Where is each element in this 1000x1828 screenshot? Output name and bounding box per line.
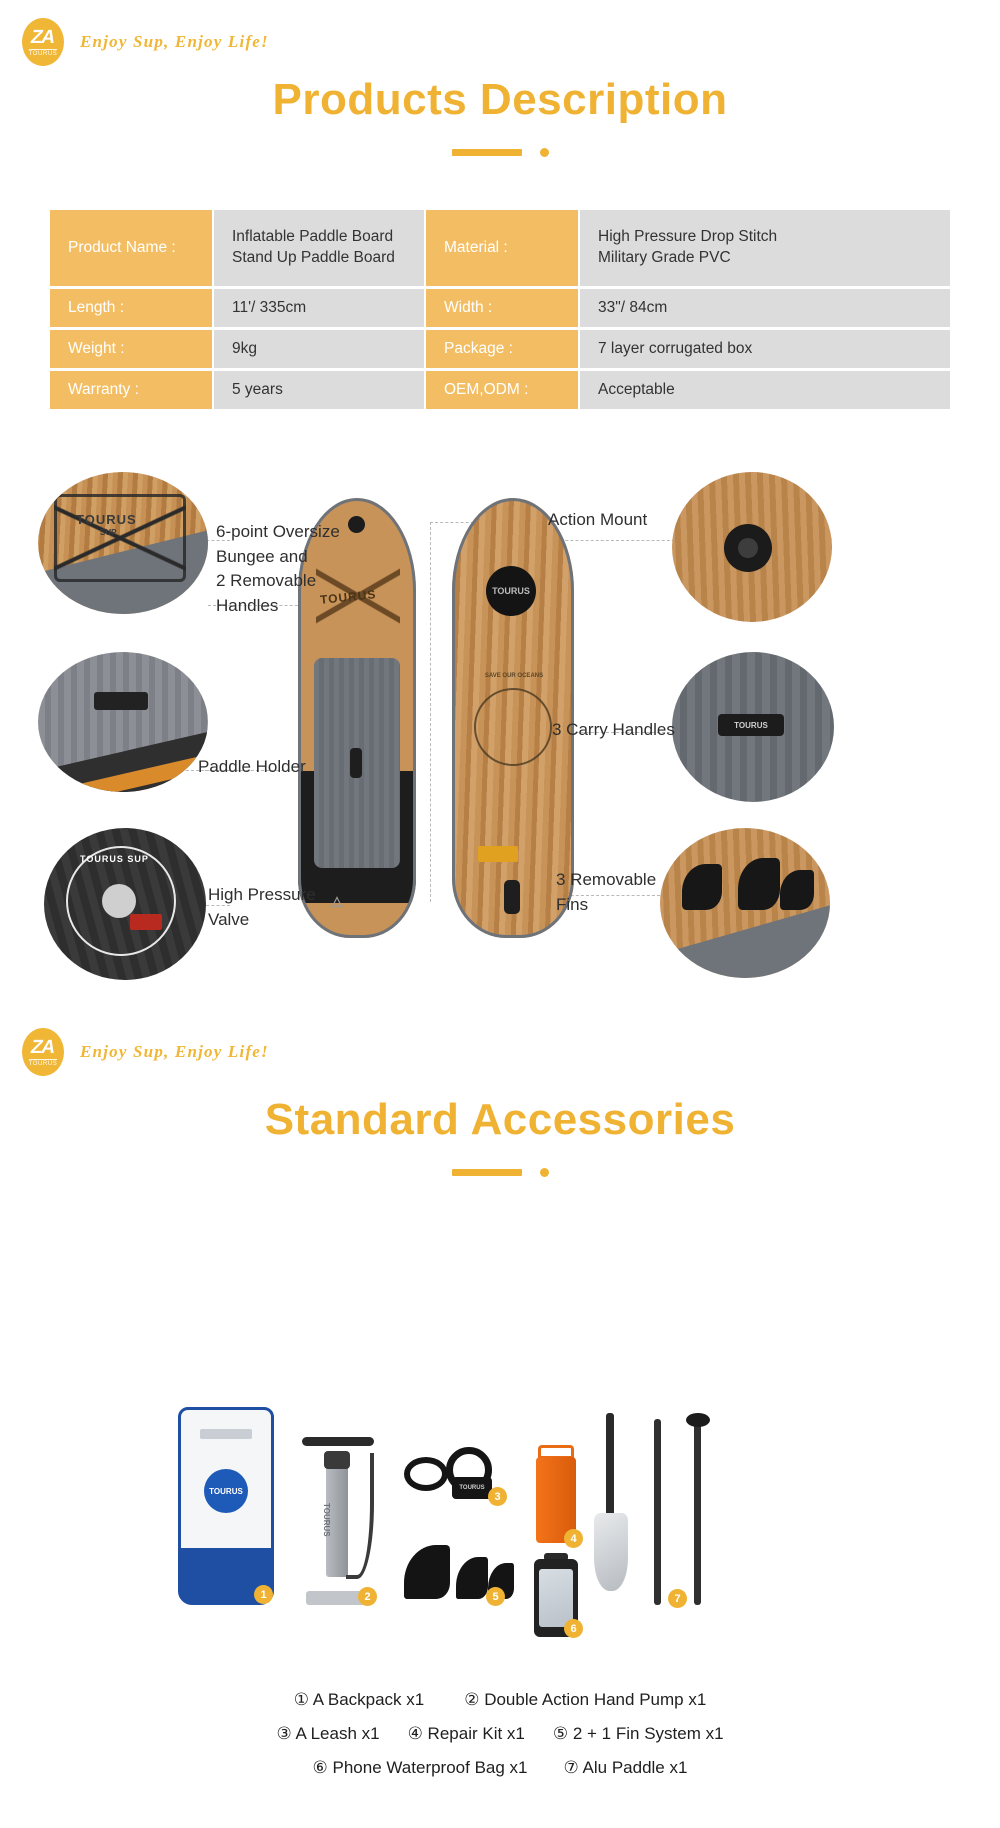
logo-wordmark: TOURUS [29,1059,58,1067]
photo-removable-fins [660,828,830,978]
accessory-badge-4: 4 [564,1529,583,1548]
product-description-page: ZA TOURUS Enjoy Sup, Enjoy Life! Product… [0,0,1000,1828]
list-item: ① A Backpack x1 [294,1690,425,1710]
spec-value: 9kg [214,330,424,368]
brand-header-bottom: ZA TOURUS Enjoy Sup, Enjoy Life! [22,1028,269,1076]
callout-bungee: 6-point Oversize Bungee and 2 Removable … [216,520,346,619]
accessories-list-row: ① A Backpack x1 ② Double Action Hand Pum… [0,1690,1000,1710]
callout-action-mount: Action Mount [548,508,647,533]
brand-header-top: ZA TOURUS Enjoy Sup, Enjoy Life! [22,18,269,66]
spec-value: 5 years [214,371,424,409]
callout-fins: 3 Removable Fins [556,868,656,917]
spec-key: Package : [426,330,578,368]
title-divider-accessories [0,1168,1000,1177]
logo-wordmark: TOURUS [29,49,58,57]
divider-bar [452,149,522,156]
accessory-badge-7: 7 [668,1589,687,1608]
logo-monogram: ZA [29,28,56,47]
spec-value: 33"/ 84cm [580,289,950,327]
turtle-graphic [474,688,552,766]
spec-key: Product Name : [50,210,212,286]
board-tail-logo: △ [332,893,342,909]
accessories-list: ① A Backpack x1 ② Double Action Hand Pum… [0,1690,1000,1792]
table-row: Length : 11'/ 335cm Width : 33"/ 84cm [50,289,950,327]
accessories-list-row: ③ A Leash x1 ④ Repair Kit x1 ⑤ 2 + 1 Fin… [0,1724,1000,1744]
spec-value: 11'/ 335cm [214,289,424,327]
accessory-leash: TOURUS 3 [404,1443,508,1509]
spec-key: Warranty : [50,371,212,409]
spec-value: High Pressure Drop Stitch Military Grade… [580,210,950,286]
spec-key: OEM,ODM : [426,371,578,409]
tourus-logo-icon: ZA TOURUS [22,1028,64,1076]
accessory-badge-2: 2 [358,1587,377,1606]
callout-carry-handles: 3 Carry Handles [552,718,675,743]
accessory-alu-paddle: 7 [598,1413,738,1613]
center-handle [350,748,362,778]
photo-paddle-holder [38,652,208,792]
leader-line [545,540,685,541]
list-item: ⑦ Alu Paddle x1 [564,1758,688,1778]
list-item: ② Double Action Hand Pump x1 [464,1690,706,1710]
photo-bungee-deck: TOURUS SUP [38,472,208,614]
board-logo-text: TOURUS [76,512,137,527]
spec-key: Weight : [50,330,212,368]
accessory-badge-6: 6 [564,1619,583,1638]
accessory-badge-3: 3 [488,1487,507,1506]
spec-key: Material : [426,210,578,286]
accessory-badge-5: 5 [486,1587,505,1606]
spec-sticker [478,846,518,862]
turtle-caption: SAVE OUR OCEANS [472,673,556,679]
spec-value: Inflatable Paddle Board Stand Up Paddle … [214,210,424,286]
list-item: ③ A Leash x1 [276,1724,379,1744]
callout-valve: High Pressure Valve [208,883,316,932]
list-item: ⑥ Phone Waterproof Bag x1 [313,1758,528,1778]
page-title-products: Products Description [0,75,1000,125]
spec-key: Length : [50,289,212,327]
table-row: Product Name : Inflatable Paddle Board S… [50,210,950,286]
leader-line-vertical [430,522,431,902]
list-item: ⑤ 2 + 1 Fin System x1 [553,1724,724,1744]
spec-value: 7 layer corrugated box [580,330,950,368]
spec-key: Width : [426,289,578,327]
divider-dot [540,148,549,157]
accessory-fin-system: 5 [404,1541,514,1605]
divider-dot [540,1168,549,1177]
tourus-logo-icon: ZA TOURUS [22,18,64,66]
divider-bar [452,1169,522,1176]
fin-box [504,880,520,914]
list-item: ④ Repair Kit x1 [408,1724,525,1744]
accessory-phone-waterproof-bag: 6 [532,1553,580,1639]
table-row: Warranty : 5 years OEM,ODM : Acceptable [50,371,950,409]
logo-monogram: ZA [29,1038,56,1057]
table-row: Weight : 9kg Package : 7 layer corrugate… [50,330,950,368]
brand-tagline: Enjoy Sup, Enjoy Life! [80,32,269,52]
action-mount-icon [348,516,365,533]
feature-diagram: TOURUS SUP TOURUS SUP TOURUS △ [0,440,1000,990]
board-bottom-logo: TOURUS [486,566,536,616]
photo-carry-handles: TOURUS [672,652,834,802]
accessories-list-row: ⑥ Phone Waterproof Bag x1 ⑦ Alu Paddle x… [0,1758,1000,1778]
page-title-accessories: Standard Accessories [0,1095,1000,1145]
accessories-gallery: TOURUS 1 TOURUS 2 TOURUS 3 5 [0,1395,1000,1625]
brand-tagline: Enjoy Sup, Enjoy Life! [80,1042,269,1062]
callout-paddle-holder: Paddle Holder [198,755,306,780]
spec-value: Acceptable [580,371,950,409]
accessory-badge-1: 1 [254,1585,273,1604]
accessory-repair-kit: 4 [534,1445,578,1545]
board-logo-sub: SUP [100,528,116,537]
title-divider-products [0,148,1000,157]
specifications-table: Product Name : Inflatable Paddle Board S… [48,207,952,412]
accessory-hand-pump: TOURUS 2 [296,1437,380,1605]
photo-high-pressure-valve: TOURUS SUP [44,828,206,980]
accessory-backpack: TOURUS 1 [178,1407,274,1605]
photo-action-mount [672,472,832,622]
